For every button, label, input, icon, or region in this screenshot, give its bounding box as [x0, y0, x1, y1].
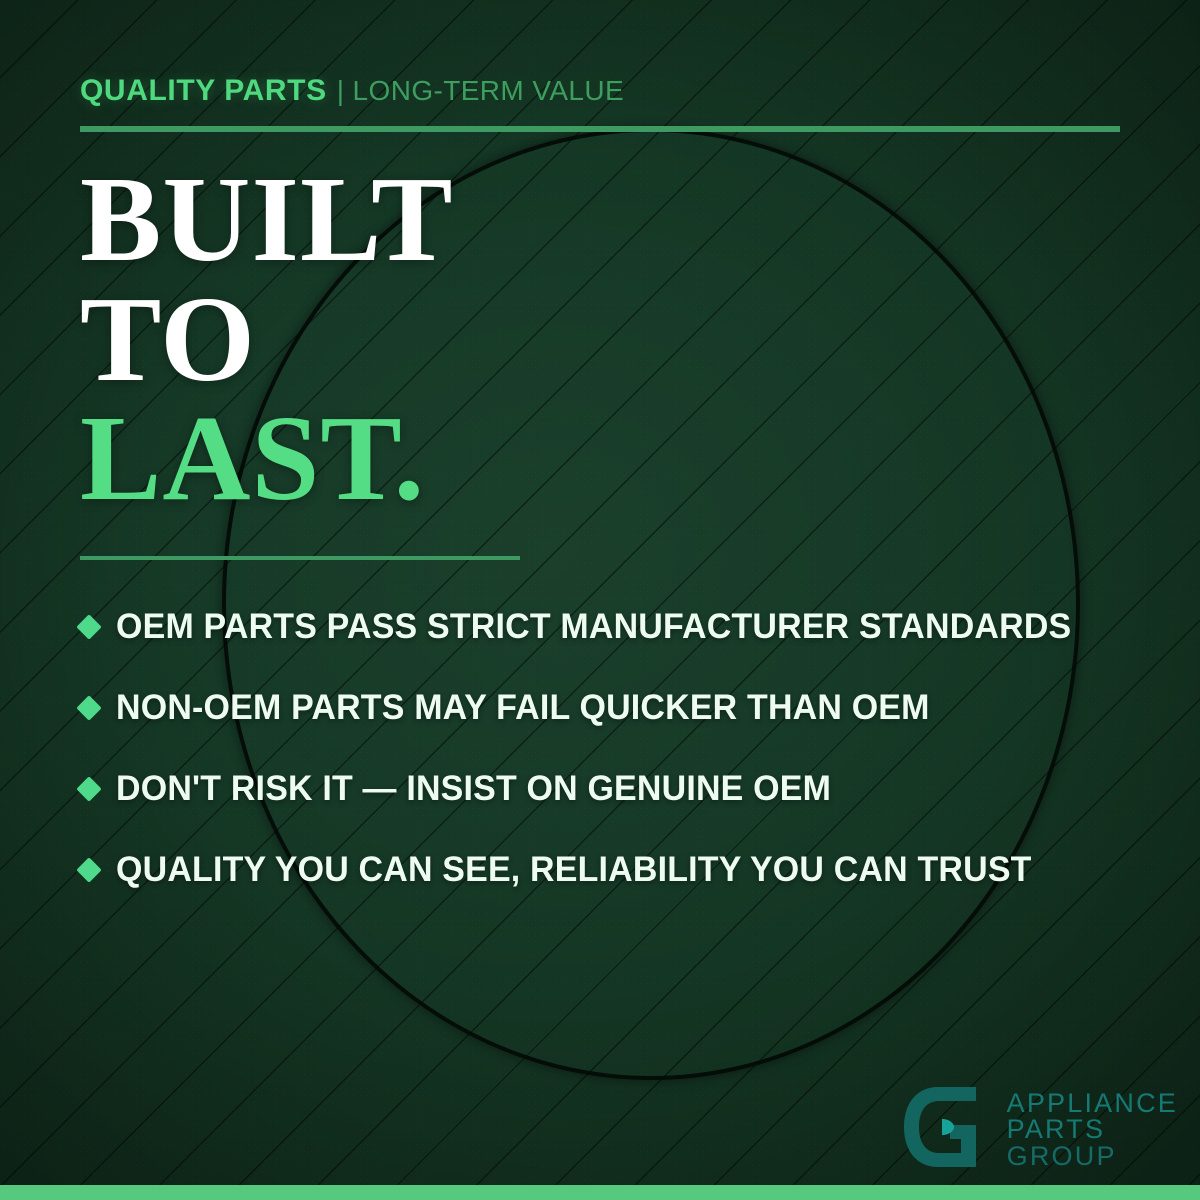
list-item-label: NON-OEM PARTS MAY FAIL QUICKER THAN OEM [116, 688, 930, 728]
eyebrow-main-label: QUALITY PARTS [80, 74, 327, 108]
headline-line-3: LAST. [80, 399, 454, 519]
list-item: OEM PARTS PASS STRICT MANUFACTURER STAND… [80, 586, 1150, 667]
eyebrow-sub-label: | LONG-TERM VALUE [337, 75, 624, 107]
diamond-bullet-icon [76, 776, 101, 801]
list-item: DON'T RISK IT — INSIST ON GENUINE OEM [80, 748, 1150, 829]
headline-line-2: TO [80, 280, 454, 400]
logo-wordmark: APPLIANCE PARTS GROUP [1007, 1090, 1178, 1169]
list-item-label: QUALITY YOU CAN SEE, RELIABILITY YOU CAN… [116, 850, 1032, 890]
page-title: BUILT TO LAST. [80, 160, 454, 519]
diamond-bullet-icon [76, 614, 101, 639]
brand-logo: APPLIANCE PARTS GROUP [898, 1081, 1178, 1178]
eyebrow-header: QUALITY PARTS | LONG-TERM VALUE [80, 74, 624, 108]
diamond-bullet-icon [76, 857, 101, 882]
list-item: NON-OEM PARTS MAY FAIL QUICKER THAN OEM [80, 667, 1150, 748]
header-divider-rule [80, 126, 1120, 132]
list-item-label: DON'T RISK IT — INSIST ON GENUINE OEM [116, 769, 831, 809]
letter-g-logo-mark [898, 1081, 994, 1178]
list-item: QUALITY YOU CAN SEE, RELIABILITY YOU CAN… [80, 829, 1150, 910]
logo-word-appliance: APPLIANCE [1007, 1090, 1178, 1116]
promo-poster: QUALITY PARTS | LONG-TERM VALUE BUILT TO… [0, 0, 1200, 1200]
logo-word-group: GROUP [1007, 1143, 1178, 1169]
headline-divider-rule [80, 556, 520, 560]
diamond-bullet-icon [76, 695, 101, 720]
benefits-list: OEM PARTS PASS STRICT MANUFACTURER STAND… [80, 586, 1150, 910]
bottom-accent-bar [0, 1185, 1200, 1200]
poster-content: QUALITY PARTS | LONG-TERM VALUE BUILT TO… [0, 0, 1200, 1200]
logo-word-parts: PARTS [1007, 1116, 1178, 1142]
headline-line-1: BUILT [80, 160, 454, 280]
list-item-label: OEM PARTS PASS STRICT MANUFACTURER STAND… [116, 607, 1071, 647]
